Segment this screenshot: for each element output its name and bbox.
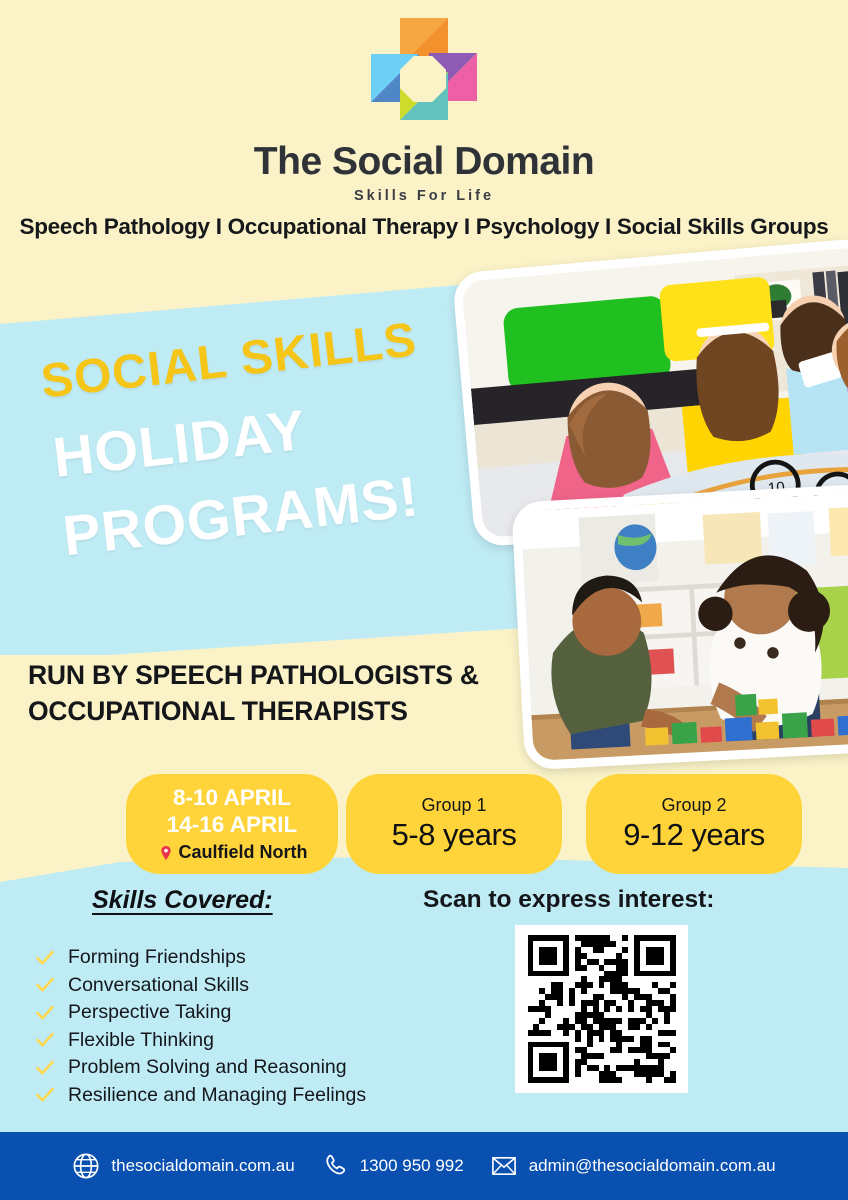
globe-icon: [72, 1152, 100, 1180]
badge-group-1-ages: 5-8 years: [392, 817, 517, 853]
skill-item: Perspective Taking: [36, 999, 436, 1027]
badge-group-2[interactable]: Group 2 9-12 years: [586, 774, 802, 874]
check-icon: [36, 1087, 54, 1103]
badge-dates-line-1: 8-10 APRIL: [173, 785, 291, 812]
badge-group-2-label: Group 2: [661, 795, 726, 816]
skills-heading: Skills Covered:: [92, 886, 273, 915]
photo-children-blocks: [511, 482, 848, 771]
qr-code-icon: [528, 935, 676, 1083]
badge-group-2-ages: 9-12 years: [623, 817, 764, 853]
poster-root: The Social Domain Skills For Life Speech…: [0, 0, 848, 1200]
footer-website[interactable]: thesocialdomain.com.au: [72, 1152, 294, 1180]
skill-item-label: Problem Solving and Reasoning: [68, 1056, 347, 1079]
check-icon: [36, 1060, 54, 1076]
qr-code-card[interactable]: [515, 925, 688, 1093]
logo-icon: [371, 18, 477, 122]
skill-item-label: Flexible Thinking: [68, 1029, 214, 1052]
brand-name: The Social Domain: [254, 140, 594, 184]
footer-website-text: thesocialdomain.com.au: [111, 1156, 294, 1176]
skill-item: Resilience and Managing Feelings: [36, 1082, 436, 1110]
services-line: Speech Pathology I Occupational Therapy …: [0, 214, 848, 240]
skill-item-label: Resilience and Managing Feelings: [68, 1084, 366, 1107]
skill-item-label: Forming Friendships: [68, 946, 246, 969]
badge-location-row: Caulfield North: [157, 842, 308, 863]
headline-block: SOCIAL SKILLS HOLIDAY PROGRAMS!: [28, 330, 478, 545]
footer-phone-text: 1300 950 992: [360, 1156, 464, 1176]
badges-row: 8-10 APRIL 14-16 APRIL Caulfield North G…: [0, 774, 848, 878]
qr-heading: Scan to express interest:: [423, 886, 714, 914]
check-icon: [36, 950, 54, 966]
badge-location-text: Caulfield North: [179, 842, 308, 863]
phone-icon: [321, 1152, 349, 1180]
run-by-text: RUN BY SPEECH PATHOLOGISTS & OCCUPATIONA…: [28, 658, 548, 730]
check-icon: [36, 1032, 54, 1048]
skill-item-label: Conversational Skills: [68, 974, 249, 997]
skill-item: Conversational Skills: [36, 972, 436, 1000]
skill-item-label: Perspective Taking: [68, 1001, 231, 1024]
check-icon: [36, 1005, 54, 1021]
envelope-icon: [490, 1152, 518, 1180]
footer-email-text: admin@thesocialdomain.com.au: [529, 1156, 776, 1176]
badge-group-1[interactable]: Group 1 5-8 years: [346, 774, 562, 874]
footer-contact-bar: thesocialdomain.com.au 1300 950 992 admi…: [0, 1132, 848, 1200]
location-pin-icon: [157, 845, 175, 861]
badge-dates[interactable]: 8-10 APRIL 14-16 APRIL Caulfield North: [126, 774, 338, 874]
badge-dates-line-2: 14-16 APRIL: [167, 812, 297, 839]
photo-children-blocks-image: [521, 491, 848, 767]
check-icon: [36, 977, 54, 993]
skill-item: Flexible Thinking: [36, 1027, 436, 1055]
brand-header: The Social Domain Skills For Life: [0, 18, 848, 204]
badge-group-1-label: Group 1: [421, 795, 486, 816]
footer-email[interactable]: admin@thesocialdomain.com.au: [490, 1152, 776, 1180]
skill-item: Problem Solving and Reasoning: [36, 1054, 436, 1082]
footer-phone[interactable]: 1300 950 992: [321, 1152, 464, 1180]
brand-tagline: Skills For Life: [354, 188, 494, 204]
skills-list: Forming FriendshipsConversational Skills…: [36, 944, 436, 1109]
skill-item: Forming Friendships: [36, 944, 436, 972]
